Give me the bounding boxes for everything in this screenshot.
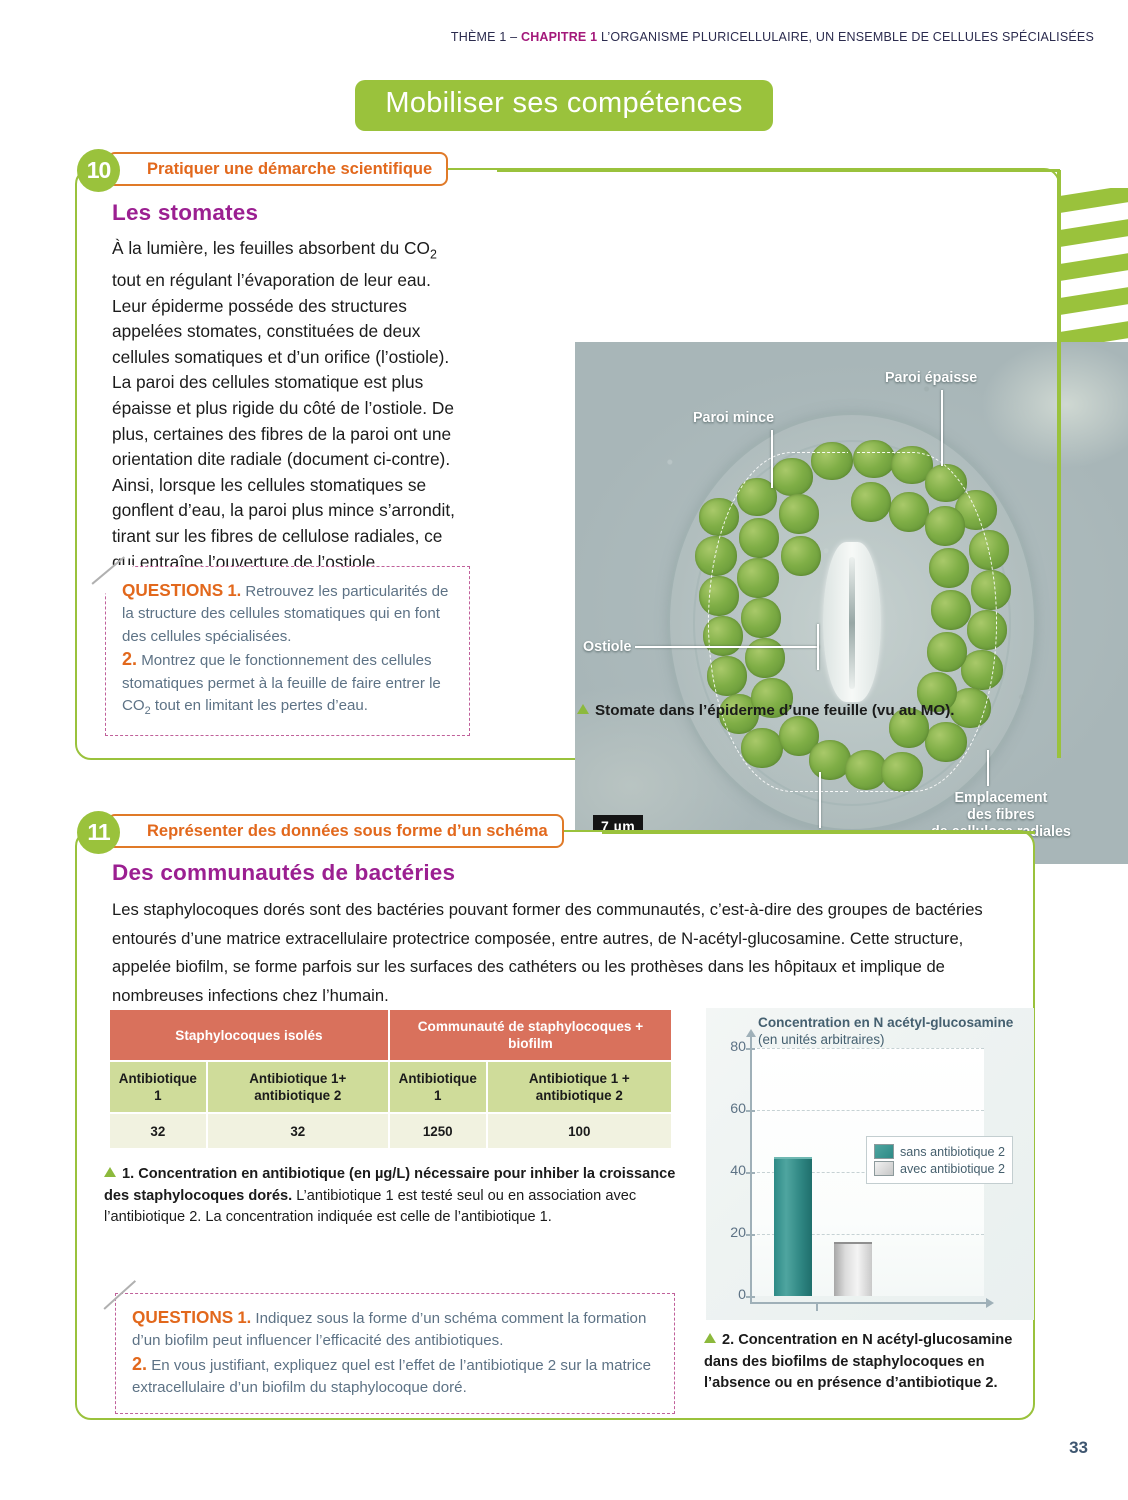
chart-y-axis bbox=[750, 1036, 752, 1304]
exercise-10-number-badge: 10 bbox=[77, 149, 120, 192]
exercise-11-number-badge: 11 bbox=[77, 811, 120, 854]
exercise-10-questions-box: QUESTIONS 1. Retrouvez les particularité… bbox=[105, 566, 470, 736]
exercise-card-10: 10 Pratiquer une démarche scientifique L… bbox=[75, 168, 1060, 760]
exercise-10-skill-label: Pratiquer une démarche scientifique bbox=[147, 160, 432, 179]
question-11-2-number: 2. bbox=[132, 1354, 147, 1374]
exercise-11-skill-label: Représenter des données sous forme d’un … bbox=[147, 822, 548, 841]
exercise-11-skill-tab: 11 Représenter des données sous forme d’… bbox=[107, 814, 564, 848]
table-sub-header-cell: Antibiotique 1 bbox=[109, 1061, 207, 1113]
leader-ostiole bbox=[635, 646, 819, 648]
table-value-cell: 32 bbox=[207, 1113, 389, 1149]
table-sub-header-row: Antibiotique 1 Antibiotique 1+ antibioti… bbox=[109, 1061, 672, 1113]
leader-paroi-epaisse bbox=[941, 390, 943, 466]
bar-chart-n-acetyl-glucosamine: Concentration en N acétyl-glucosamine (e… bbox=[706, 1008, 1034, 1320]
page-title-banner: Mobiliser ses compétences bbox=[355, 80, 772, 131]
y-tick-label: 80 bbox=[706, 1039, 746, 1055]
questions-label-10: QUESTIONS bbox=[122, 580, 223, 600]
y-tick-label: 0 bbox=[706, 1287, 746, 1303]
label-paroi-epaisse: Paroi épaisse bbox=[885, 370, 977, 387]
legend-swatch-teal bbox=[874, 1144, 894, 1159]
chart-subtitle: (en unités arbitraires) bbox=[758, 1032, 885, 1047]
table-row: 32 32 1250 100 bbox=[109, 1113, 672, 1149]
bar-avec-antibiotique-2 bbox=[834, 1242, 872, 1296]
running-header-chapter: CHAPITRE 1 bbox=[521, 30, 597, 44]
chart-caption-text: 2. Concentration en N acétyl-glucosamine… bbox=[704, 1332, 1012, 1391]
y-tick-label: 20 bbox=[706, 1225, 746, 1241]
banner-container: Mobiliser ses compétences bbox=[0, 80, 1128, 131]
chart-caption-triangle-icon bbox=[704, 1333, 716, 1343]
legend-item-avec-antibiotique-2: avec antibiotique 2 bbox=[874, 1161, 1005, 1176]
table-sub-header-cell: Antibiotique 1 bbox=[389, 1061, 487, 1113]
legend-label: avec antibiotique 2 bbox=[900, 1162, 1005, 1176]
card-edge-overlay bbox=[1057, 170, 1061, 758]
exercise-11-questions-box: QUESTIONS 1. Indiquez sous la forme d’un… bbox=[115, 1293, 675, 1414]
exercise-10-title: Les stomates bbox=[112, 200, 258, 226]
chart-title: Concentration en N acétyl-glucosamine (e… bbox=[758, 1014, 1033, 1048]
antibiotic-concentration-table: Staphylocoques isolés Communauté de stap… bbox=[108, 1008, 673, 1150]
x-tick-mark bbox=[816, 1304, 818, 1311]
gridline-80 bbox=[752, 1048, 984, 1049]
y-tick-label: 40 bbox=[706, 1163, 746, 1179]
page-number: 33 bbox=[1069, 1438, 1088, 1458]
table-caption: 1. Concentration en antibiotique (en µg/… bbox=[104, 1164, 684, 1229]
running-header-chapter-title: L’ORGANISME PLURICELLULAIRE, UN ENSEMBLE… bbox=[597, 30, 1094, 44]
fibres-line-2: des fibres bbox=[967, 807, 1035, 823]
legend-label: sans antibiotique 2 bbox=[900, 1145, 1005, 1159]
chart-title-main: Concentration en N acétyl-glucosamine bbox=[758, 1015, 1013, 1030]
table-group-header-cell: Communauté de staphylocoques + biofilm bbox=[389, 1009, 672, 1061]
exercise-11-paragraph: Les staphylocoques dorés sont des bactér… bbox=[112, 896, 1020, 1010]
table-caption-triangle-icon bbox=[104, 1167, 116, 1177]
table-value-cell: 100 bbox=[487, 1113, 672, 1149]
micrograph-stomate: Paroi mince Paroi épaisse Ostiole Cellul… bbox=[575, 342, 1128, 864]
leader-cellule-stomatique bbox=[819, 772, 821, 828]
question-10-2-number: 2. bbox=[122, 649, 137, 669]
table-group-header-row: Staphylocoques isolés Communauté de stap… bbox=[109, 1009, 672, 1061]
leader-paroi-mince bbox=[771, 430, 773, 488]
chart-x-axis-arrow-icon bbox=[986, 1298, 994, 1308]
exercise-10-paragraph: À la lumière, les feuilles absorbent du … bbox=[112, 236, 462, 575]
gridline-60 bbox=[752, 1110, 984, 1111]
running-header-theme: THÈME 1 – bbox=[451, 30, 521, 44]
figure-caption-stomate: Stomate dans l’épiderme d’une feuille (v… bbox=[577, 700, 1097, 721]
running-header: THÈME 1 – CHAPITRE 1 L’ORGANISME PLURICE… bbox=[451, 30, 1094, 44]
y-tick-label: 60 bbox=[706, 1101, 746, 1117]
exercise-10-skill-tab: 10 Pratiquer une démarche scientifique bbox=[107, 152, 448, 186]
chart-legend: sans antibiotique 2 avec antibiotique 2 bbox=[866, 1136, 1013, 1184]
table-sub-header-cell: Antibiotique 1+ antibiotique 2 bbox=[207, 1061, 389, 1113]
label-paroi-mince: Paroi mince bbox=[693, 410, 774, 427]
bar-sans-antibiotique-2 bbox=[774, 1157, 812, 1296]
question-11-1-number: 1. bbox=[237, 1309, 251, 1327]
question-10-1-number: 1. bbox=[227, 582, 241, 600]
leader-fibres-cellulose bbox=[987, 750, 989, 786]
table-value-cell: 1250 bbox=[389, 1113, 487, 1149]
chart-caption: 2. Concentration en N acétyl-glucosamine… bbox=[704, 1330, 1034, 1395]
legend-item-sans-antibiotique-2: sans antibiotique 2 bbox=[874, 1144, 1005, 1159]
question-10-2-text: Montrez que le fonctionnement des cellul… bbox=[122, 652, 441, 714]
legend-swatch-gray bbox=[874, 1161, 894, 1176]
fibres-line-1: Emplacement bbox=[954, 790, 1047, 806]
exercise-10-tab-connector bbox=[497, 169, 1060, 172]
exercise-11-tab-connector bbox=[602, 831, 1035, 834]
chart-y-axis-arrow-icon bbox=[746, 1029, 756, 1037]
table-value-cell: 32 bbox=[109, 1113, 207, 1149]
table-sub-header-cell: Antibiotique 1 + antibiotique 2 bbox=[487, 1061, 672, 1113]
chart-x-axis bbox=[750, 1302, 988, 1304]
label-ostiole: Ostiole bbox=[583, 639, 631, 656]
exercise-11-title: Des communautés de bactéries bbox=[112, 860, 455, 886]
caption-triangle-icon bbox=[577, 704, 589, 714]
questions-label-11: QUESTIONS bbox=[132, 1307, 233, 1327]
table-group-header-cell: Staphylocoques isolés bbox=[109, 1009, 389, 1061]
figure-caption-text: Stomate dans l’épiderme d’une feuille (v… bbox=[595, 702, 955, 719]
question-11-2-text: En vous justifiant, expliquez quel est l… bbox=[132, 1357, 651, 1396]
